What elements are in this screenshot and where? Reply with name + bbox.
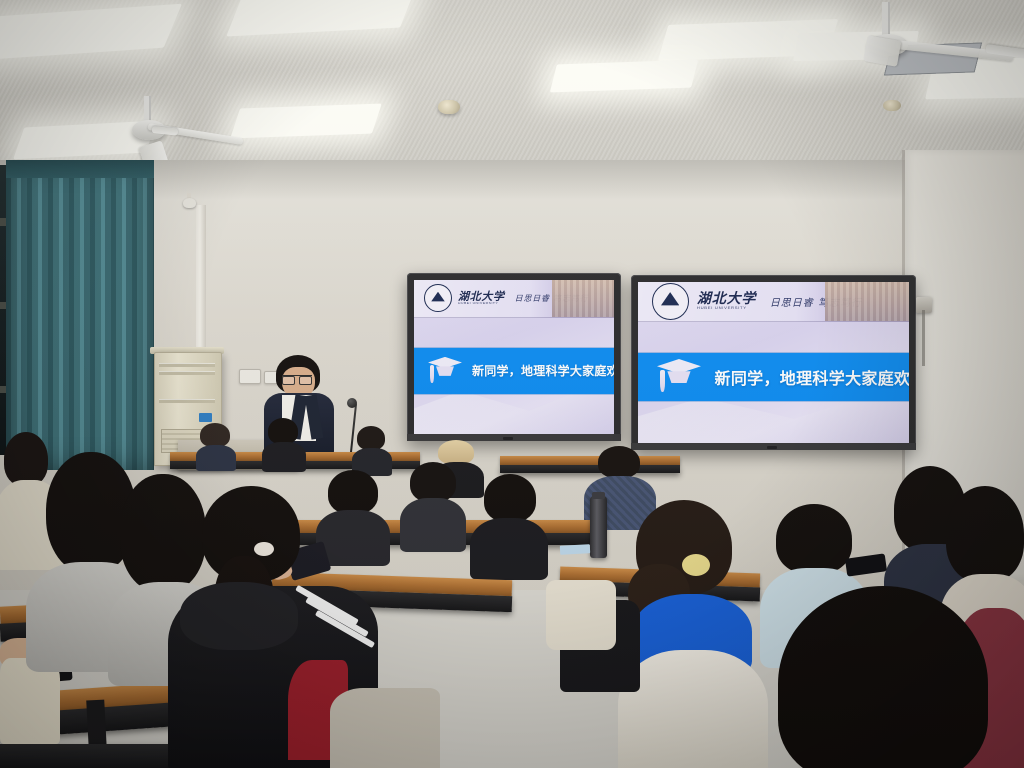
student-head xyxy=(776,504,852,574)
hubei-university-seal-icon xyxy=(652,283,689,320)
student-torso xyxy=(262,442,306,472)
graduation-cap-icon xyxy=(657,359,701,395)
ceiling-fan xyxy=(786,2,1006,88)
ac-slot xyxy=(159,363,215,367)
right-display[interactable]: 湖北大学 HUBEI UNIVERSITY 日思日睿 笃志笃行 新同学，地理科学… xyxy=(631,275,916,450)
ac-slot xyxy=(159,399,215,403)
hair-scrunchie xyxy=(254,542,274,556)
left-display[interactable]: 湖北大学 HUBEI UNIVERSITY 日思日睿 笃志笃行 新同学，地理科学… xyxy=(407,273,621,441)
smoke-detector-icon xyxy=(883,100,901,111)
cap-tassel xyxy=(660,370,665,392)
smoke-detector-icon xyxy=(438,100,460,114)
university-name-en: HUBEI UNIVERSITY xyxy=(697,307,756,311)
student-torso xyxy=(400,498,466,552)
lecture-hall-photo: 湖北大学 HUBEI UNIVERSITY 日思日睿 笃志笃行 新同学，地理科学… xyxy=(0,0,1024,768)
ac-badge xyxy=(199,413,212,422)
list-item xyxy=(470,474,548,570)
university-name-block: 湖北大学 HUBEI UNIVERSITY xyxy=(697,292,756,310)
slide-welcome-band: 新同学，地理科学大家庭欢迎你！ xyxy=(414,348,614,394)
student-torso xyxy=(470,518,548,580)
bottle-cap xyxy=(592,492,605,499)
student-head xyxy=(268,418,298,444)
list-item xyxy=(352,426,392,472)
presentation-slide: 湖北大学 HUBEI UNIVERSITY 日思日睿 笃志笃行 新同学，地理科学… xyxy=(414,280,614,434)
student-head xyxy=(598,446,640,478)
student-head xyxy=(200,423,230,447)
fan-rod xyxy=(882,2,890,36)
ceiling-panel-light xyxy=(550,60,698,93)
student-head xyxy=(484,474,536,522)
slide-header: 湖北大学 HUBEI UNIVERSITY 日思日睿 笃志笃行 xyxy=(414,280,614,318)
hubei-university-seal-icon xyxy=(424,284,452,312)
list-item xyxy=(262,418,306,468)
welcome-message: 新同学，地理科学大家庭欢迎你！ xyxy=(472,362,614,379)
display-ir-sensor xyxy=(767,446,777,449)
university-name-en: HUBEI UNIVERSITY xyxy=(458,303,505,306)
campus-building-photo xyxy=(825,282,909,321)
student-head xyxy=(946,486,1024,582)
microphone-icon xyxy=(347,398,357,408)
cap-base xyxy=(435,366,455,376)
water-bottle[interactable] xyxy=(590,496,607,558)
list-item xyxy=(196,423,236,467)
cap-base xyxy=(666,371,692,383)
campus-building-photo xyxy=(552,280,614,317)
wall-outlet[interactable] xyxy=(239,369,261,384)
student-head xyxy=(410,462,456,502)
cap-tassel xyxy=(430,365,434,382)
right-display-panel: 湖北大学 HUBEI UNIVERSITY 日思日睿 笃志笃行 新同学，地理科学… xyxy=(638,282,909,443)
display-bezel-chin xyxy=(631,443,916,450)
university-name-block: 湖北大学 HUBEI UNIVERSITY xyxy=(458,291,505,305)
paper-sheet[interactable] xyxy=(560,544,590,555)
curtain-rail xyxy=(6,160,154,178)
student-jeans xyxy=(330,688,440,768)
university-name-cn: 湖北大学 xyxy=(697,292,756,306)
left-display-panel: 湖北大学 HUBEI UNIVERSITY 日思日睿 笃志笃行 新同学，地理科学… xyxy=(414,280,614,434)
tote-bag xyxy=(546,580,616,650)
glasses-icon xyxy=(282,375,312,383)
ac-slot xyxy=(159,371,215,375)
student-torso xyxy=(618,650,768,768)
display-ir-sensor xyxy=(503,437,513,440)
beige-cap-icon xyxy=(438,440,474,464)
fan-rod xyxy=(144,96,151,122)
fan-blade xyxy=(863,35,901,67)
security-camera-icon xyxy=(183,198,196,208)
list-item xyxy=(778,586,988,768)
display-cable xyxy=(922,310,925,366)
hoodie-hood xyxy=(180,582,298,650)
hair-scrunchie xyxy=(682,554,710,576)
list-item xyxy=(400,462,466,546)
slide-header: 湖北大学 HUBEI UNIVERSITY 日思日睿 笃志笃行 xyxy=(638,282,909,322)
student-head xyxy=(357,426,385,450)
list-item xyxy=(618,500,768,768)
welcome-message: 新同学，地理科学大家庭欢迎你！ xyxy=(715,365,909,389)
window-curtain[interactable] xyxy=(6,160,154,470)
student-torso xyxy=(196,445,236,471)
slide-welcome-band: 新同学，地理科学大家庭欢迎你！ xyxy=(638,353,909,401)
ceiling-fan xyxy=(108,96,268,166)
student-head xyxy=(778,586,988,768)
graduation-cap-icon xyxy=(428,357,462,385)
presentation-slide: 湖北大学 HUBEI UNIVERSITY 日思日睿 笃志笃行 新同学，地理科学… xyxy=(638,282,909,443)
